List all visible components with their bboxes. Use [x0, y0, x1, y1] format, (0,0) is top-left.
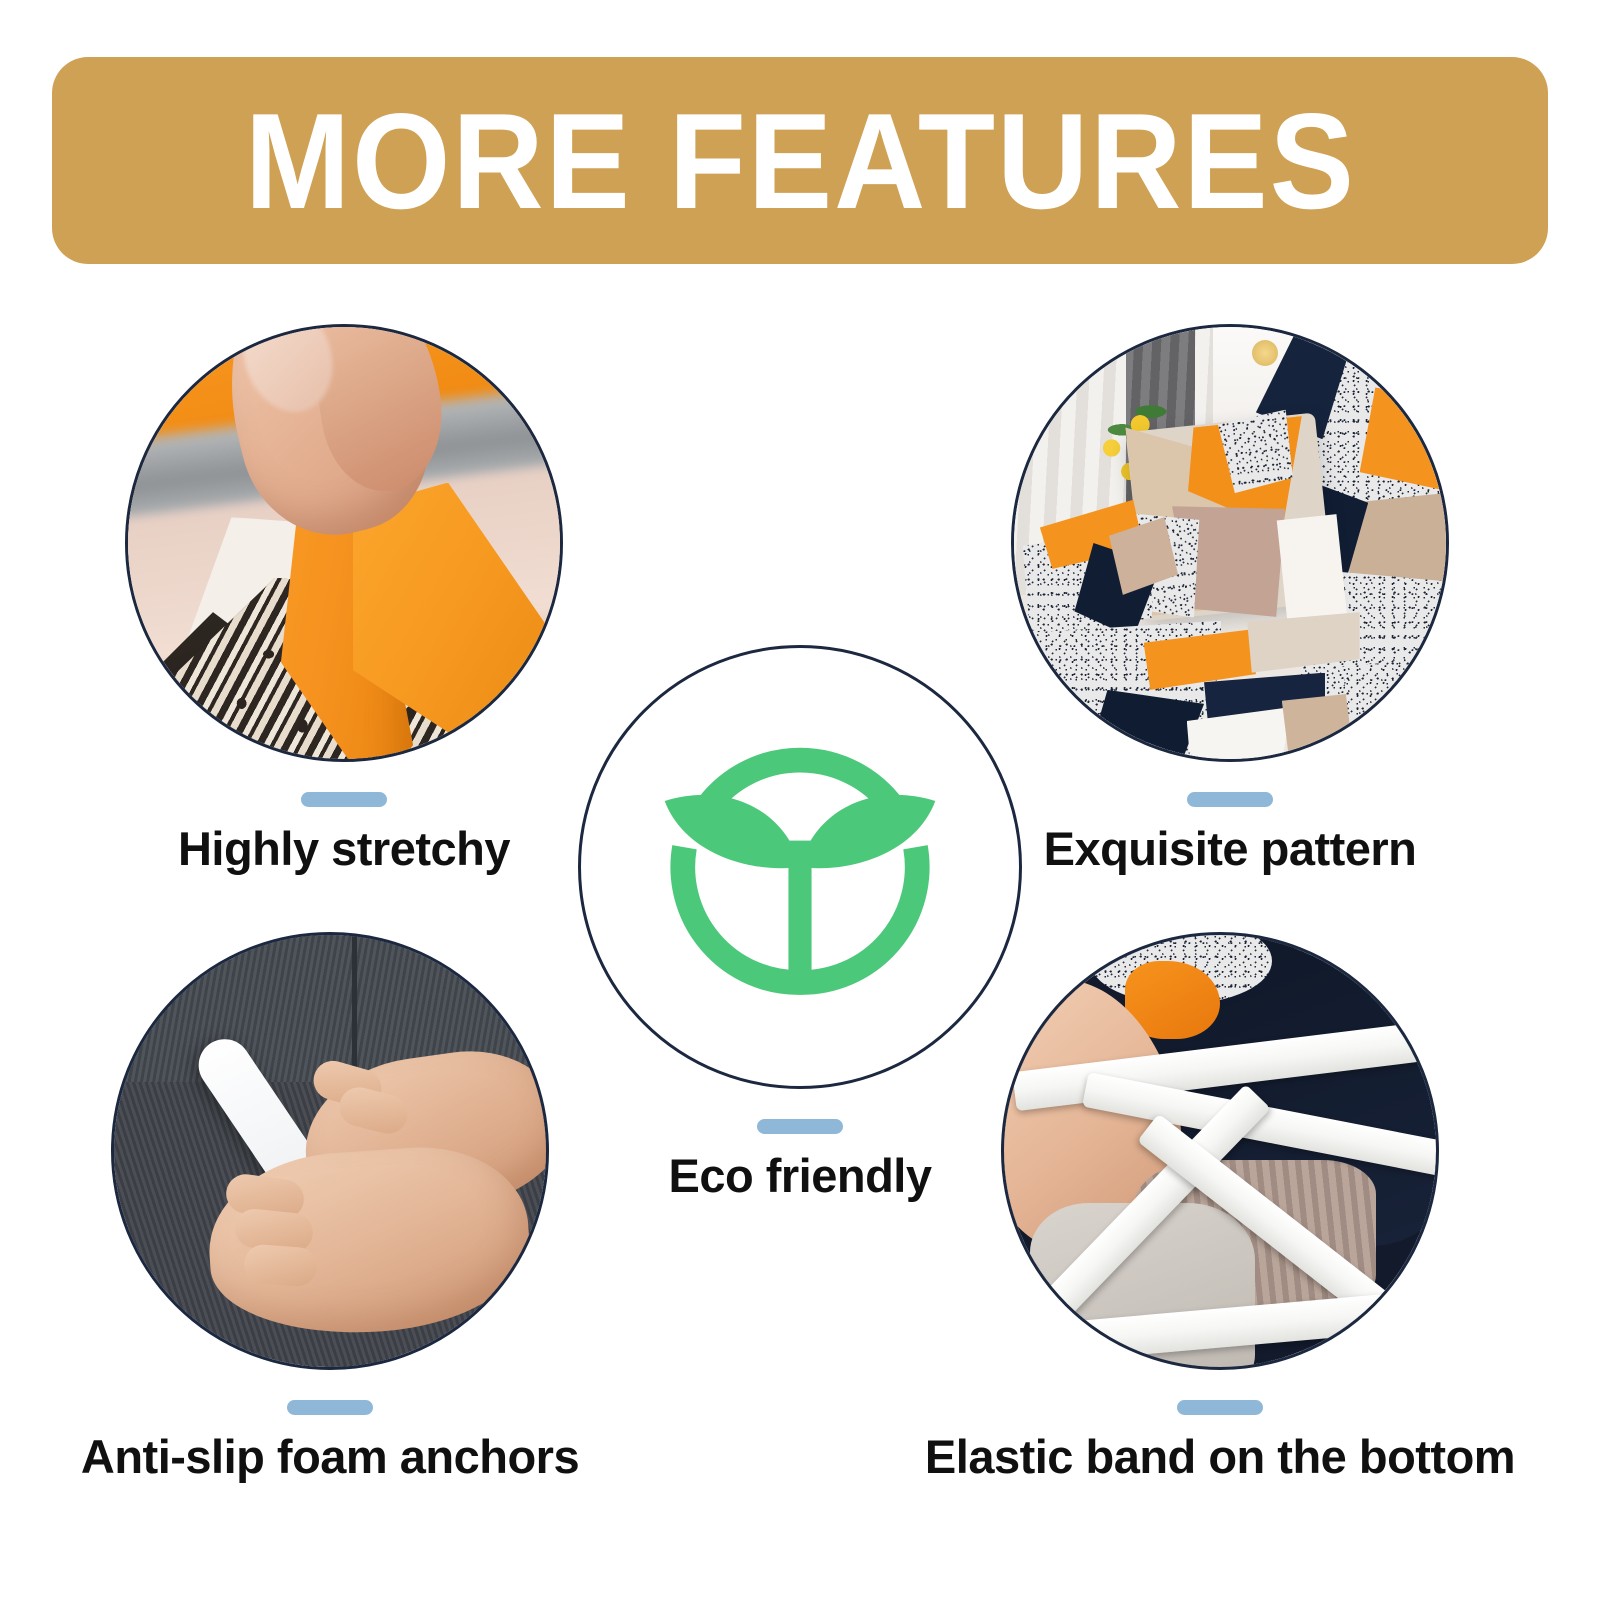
photo-art-patchwork-sofa [1014, 327, 1446, 759]
page-title: MORE FEATURES [244, 93, 1355, 229]
photo-exquisite-pattern [1011, 324, 1449, 762]
photo-art-elastic-band [1004, 935, 1436, 1367]
feature-item-elastic-band: Elastic band on the bottom [1000, 932, 1440, 1483]
label-dash [301, 792, 387, 807]
photo-elastic-band [1001, 932, 1439, 1370]
feature-label-anti-slip-foam-anchors: Anti-slip foam anchors [81, 1431, 579, 1483]
eco-badge-circle [578, 645, 1022, 1089]
feature-item-exquisite-pattern: Exquisite pattern [1010, 324, 1450, 875]
photo-art-foam-anchor [114, 935, 546, 1367]
feature-label-highly-stretchy: Highly stretchy [178, 823, 510, 875]
label-dash [1177, 1400, 1263, 1415]
feature-item-highly-stretchy: Highly stretchy [124, 324, 564, 875]
label-dash [287, 1400, 373, 1415]
feature-item-anti-slip-foam-anchors: Anti-slip foam anchors [110, 932, 550, 1483]
label-dash [1187, 792, 1273, 807]
header-banner: MORE FEATURES [52, 57, 1548, 264]
sprout-leaf-icon [635, 702, 965, 1032]
feature-item-eco-friendly: Eco friendly [578, 645, 1022, 1202]
photo-art-stretchy-fabric [128, 327, 560, 759]
label-dash [757, 1119, 843, 1134]
photo-highly-stretchy [125, 324, 563, 762]
feature-label-exquisite-pattern: Exquisite pattern [1044, 823, 1417, 875]
feature-label-eco-friendly: Eco friendly [668, 1150, 931, 1202]
feature-label-elastic-band: Elastic band on the bottom [925, 1431, 1515, 1483]
photo-anti-slip-foam-anchors [111, 932, 549, 1370]
